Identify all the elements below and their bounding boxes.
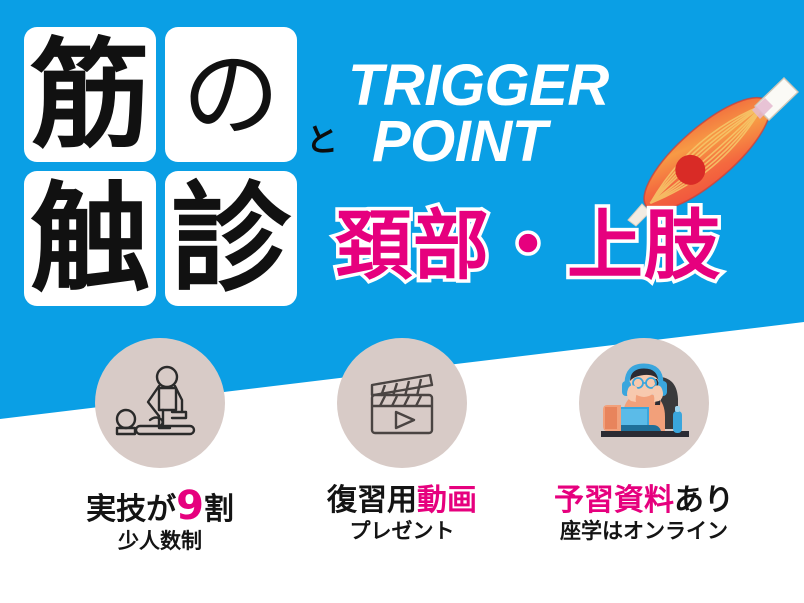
kanji-card-no: の — [165, 27, 297, 162]
feature-sub-practice: 少人数制 — [70, 530, 250, 553]
kanji-card-shoku: 触 — [24, 171, 156, 306]
online-study-headphones-icon — [591, 357, 697, 449]
feature-main-video: 復習用動画 — [312, 485, 492, 517]
kanji-char-kin: 筋 — [30, 36, 150, 154]
poster-root: 筋 の 触 診 と TRIGGER POINT — [0, 0, 804, 603]
feature-main-pre-practice: 実技が — [86, 492, 176, 527]
feature-circle-practice — [95, 338, 225, 468]
feature-sub-online: 座学はオンライン — [554, 520, 734, 543]
feature-main-practice: 実技が9割 — [70, 485, 250, 527]
kanji-char-shin: 診 — [171, 180, 291, 298]
feature-list: 実技が9割 少人数制 — [0, 338, 804, 568]
kanji-char-shoku: 触 — [30, 180, 150, 298]
feature-main-post-online: あり — [674, 483, 734, 518]
feature-sub-video: プレゼント — [312, 520, 492, 543]
feature-main-highlight-online: 予習資料 — [554, 483, 674, 518]
feature-main-online: 予習資料あり — [554, 485, 734, 517]
clapperboard-play-icon — [356, 363, 448, 443]
feature-item-video: 復習用動画 プレゼント — [312, 338, 492, 543]
feature-main-highlight-video: 動画 — [417, 483, 477, 518]
kanji-card-grid: 筋 の 触 診 — [24, 27, 297, 307]
region-subtitle: 頚部・上肢 — [336, 208, 721, 284]
feature-main-highlight-practice: 9 — [176, 483, 204, 529]
feature-item-online: 予習資料あり 座学はオンライン — [554, 338, 734, 543]
feature-circle-online — [579, 338, 709, 468]
feature-main-post-practice: 割 — [204, 492, 234, 527]
feature-circle-video — [337, 338, 467, 468]
massage-practice-icon — [112, 362, 208, 444]
kanji-card-shin: 診 — [165, 171, 297, 306]
kanji-card-kin: 筋 — [24, 27, 156, 162]
feature-item-practice: 実技が9割 少人数制 — [70, 338, 250, 553]
connector-to: と — [306, 124, 338, 156]
feature-main-pre-video: 復習用 — [327, 483, 417, 518]
kanji-char-no: の — [182, 47, 280, 143]
